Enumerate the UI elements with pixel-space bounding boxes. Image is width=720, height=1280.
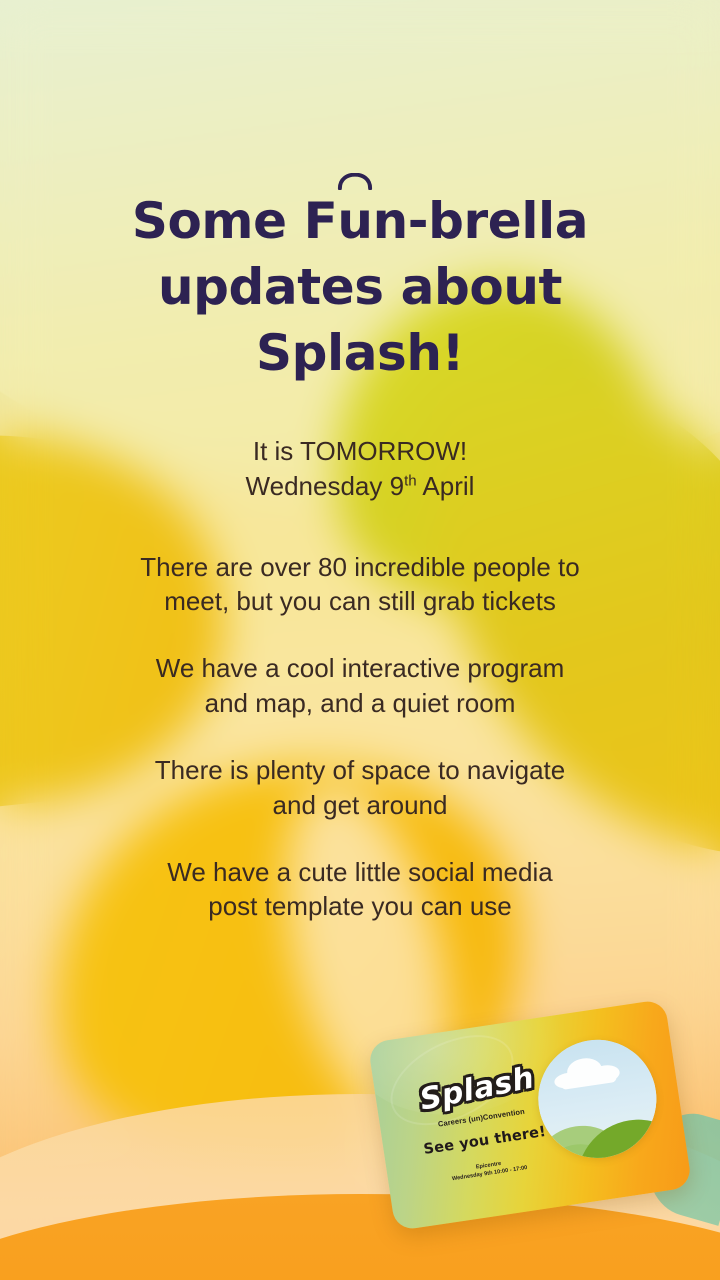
splash-update-poster: Some Fun-brella updates about Splash! It… — [0, 0, 720, 1280]
umbrella-u-glyph: u — [337, 188, 372, 254]
paragraph-space: There is plenty of space to navigate and… — [48, 753, 672, 823]
date-line-tomorrow: It is TOMORROW! — [48, 434, 672, 469]
program-line-2: and map, and a quiet room — [48, 686, 672, 721]
space-line-1: There is plenty of space to navigate — [48, 753, 672, 788]
headline-line-1: Some Fun-brella — [48, 188, 672, 254]
space-line-2: and get around — [48, 788, 672, 823]
headline-u-letter: u — [337, 192, 372, 250]
date-month: April — [417, 471, 475, 501]
headline-text-after-u: n-brella — [373, 192, 589, 250]
template-line-1: We have a cute little social media — [48, 855, 672, 890]
paragraph-people: There are over 80 incredible people to m… — [48, 550, 672, 620]
date-ordinal-suffix: th — [404, 472, 417, 489]
headline-line-3: Splash! — [48, 320, 672, 386]
paragraph-program: We have a cool interactive program and m… — [48, 651, 672, 721]
program-line-1: We have a cool interactive program — [48, 651, 672, 686]
paragraph-date: It is TOMORROW! Wednesday 9th April — [48, 434, 672, 504]
people-line-1: There are over 80 incredible people to — [48, 550, 672, 585]
date-line-full: Wednesday 9th April — [48, 469, 672, 504]
body-text-block: It is TOMORROW! Wednesday 9th April Ther… — [48, 434, 672, 924]
paragraph-template: We have a cute little social media post … — [48, 855, 672, 925]
headline-text-before-u: Some F — [132, 192, 338, 250]
date-prefix: Wednesday 9 — [246, 471, 405, 501]
people-line-2: meet, but you can still grab tickets — [48, 584, 672, 619]
landscape-badge-icon — [530, 1032, 664, 1166]
headline-line-2: updates about — [48, 254, 672, 320]
template-line-2: post template you can use — [48, 889, 672, 924]
page-title: Some Fun-brella updates about Splash! — [48, 188, 672, 386]
